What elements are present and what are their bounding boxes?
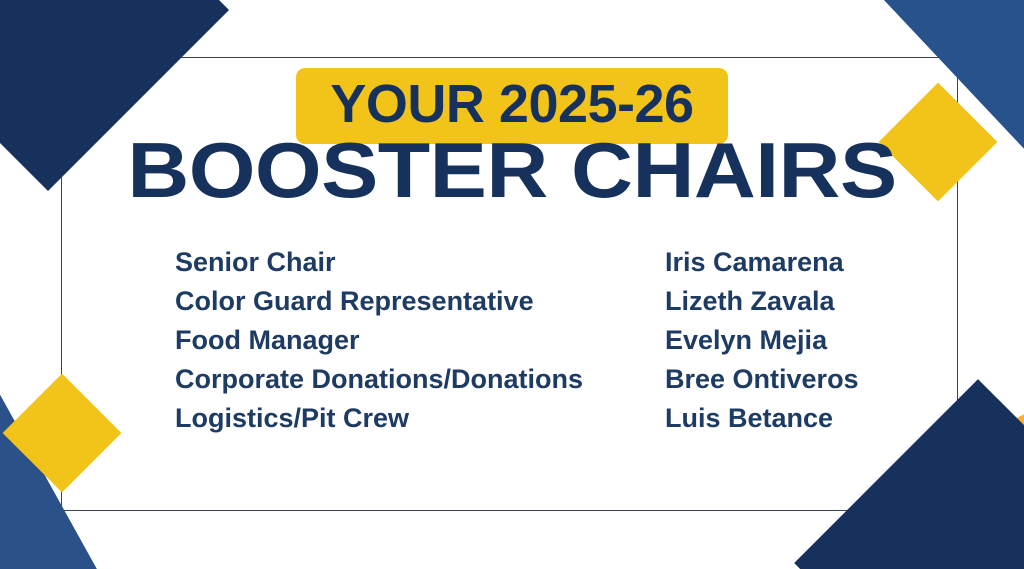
list-item: Iris Camarena bbox=[665, 243, 904, 282]
list-item: Evelyn Mejia bbox=[665, 321, 904, 360]
names-column: Iris Camarena Lizeth Zavala Evelyn Mejia… bbox=[665, 243, 904, 438]
poster-content: YOUR 2025-26 BOOSTER CHAIRS Senior Chair… bbox=[0, 0, 1024, 569]
list-item: Senior Chair bbox=[175, 243, 665, 282]
poster-canvas: YOUR 2025-26 BOOSTER CHAIRS Senior Chair… bbox=[0, 0, 1024, 569]
list-item: Bree Ontiveros bbox=[665, 360, 904, 399]
page-title: BOOSTER CHAIRS bbox=[0, 131, 1024, 209]
list-item: Lizeth Zavala bbox=[665, 282, 904, 321]
list-item: Food Manager bbox=[175, 321, 665, 360]
list-item: Logistics/Pit Crew bbox=[175, 399, 665, 438]
list-item: Color Guard Representative bbox=[175, 282, 665, 321]
roster-columns: Senior Chair Color Guard Representative … bbox=[175, 243, 904, 438]
roles-column: Senior Chair Color Guard Representative … bbox=[175, 243, 665, 438]
list-item: Corporate Donations/Donations bbox=[175, 360, 665, 399]
list-item: Luis Betance bbox=[665, 399, 904, 438]
